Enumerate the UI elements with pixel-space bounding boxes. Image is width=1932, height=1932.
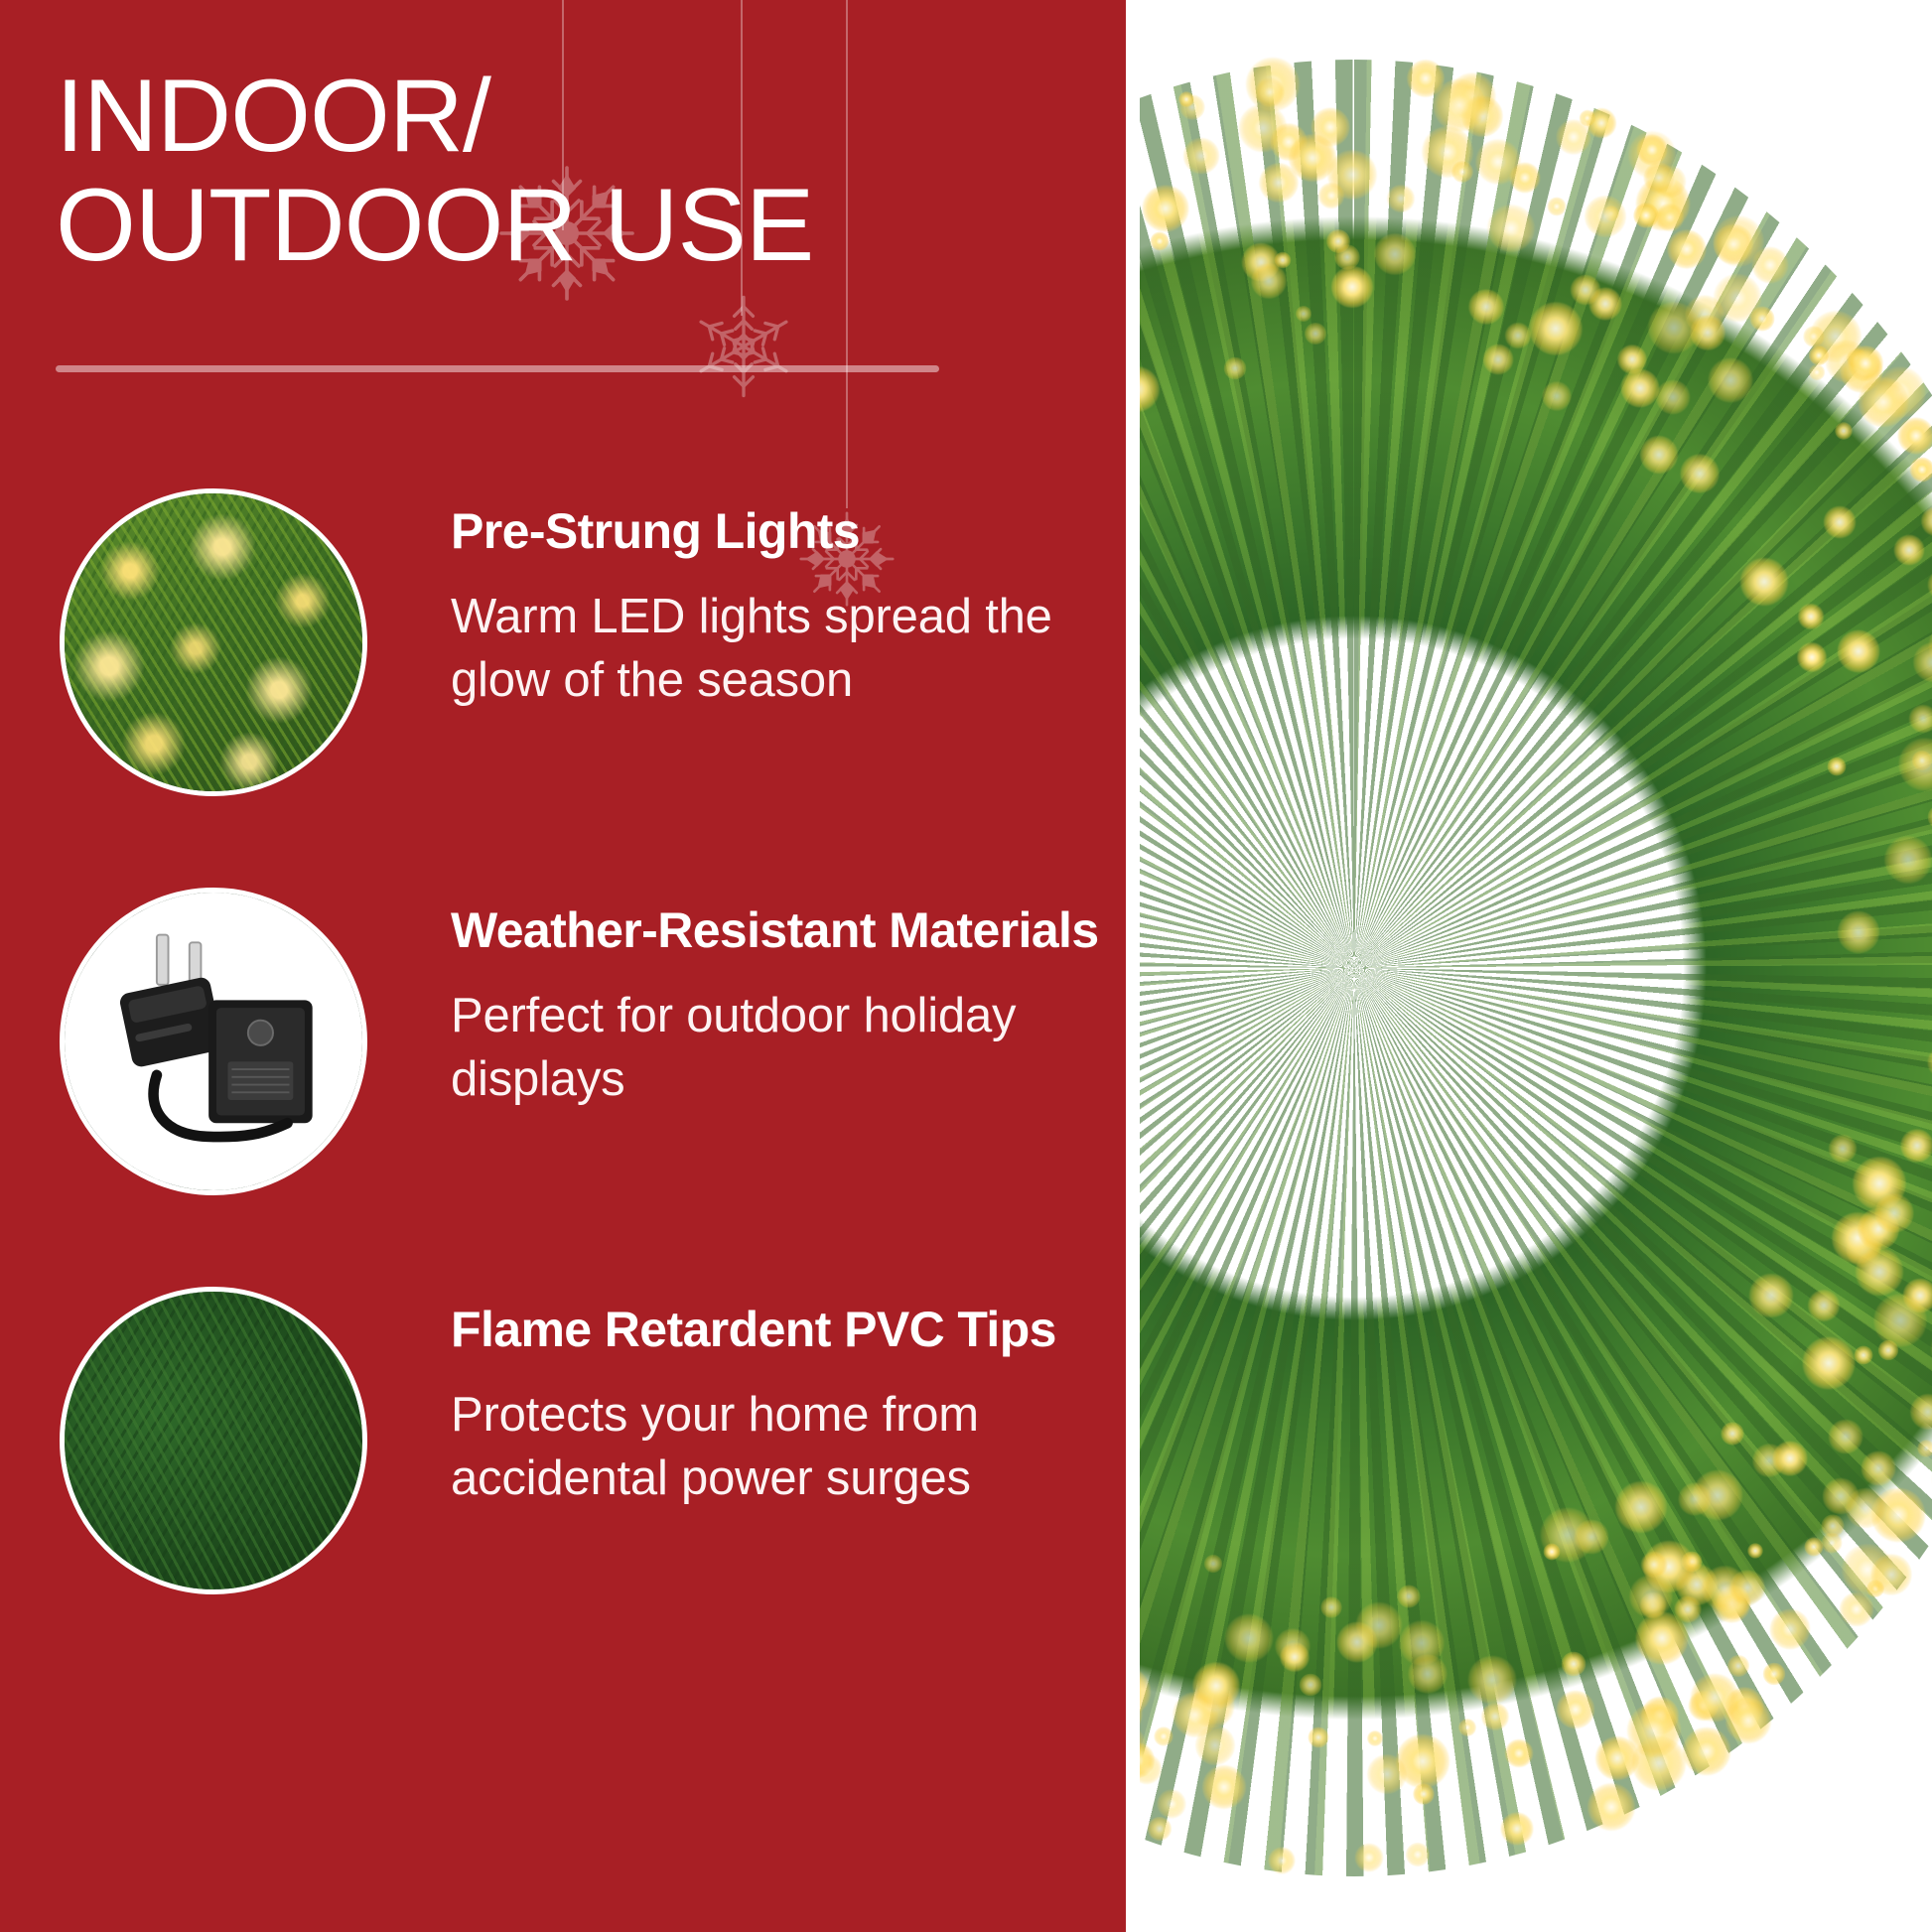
page-title-line-2: OUTDOOR USE [56, 171, 1058, 280]
feature-text-block: Weather-Resistant Materials Perfect for … [367, 888, 1126, 1111]
product-feature-infographic: INDOOR/ OUTDOOR USE Pre-Strung Lights Wa… [0, 0, 1932, 1932]
feature-text-block: Flame Retardent PVC Tips Protects your h… [367, 1287, 1126, 1510]
snowflake-icon [685, 288, 802, 405]
pre-lit-christmas-wreath-photo [1126, 60, 1932, 1876]
feature-list: Pre-Strung Lights Warm LED lights spread… [0, 488, 1126, 1686]
feature-item-flame-retardent-pvc-tips: Flame Retardent PVC Tips Protects your h… [0, 1287, 1126, 1594]
feature-item-weather-resistant-materials: Weather-Resistant Materials Perfect for … [0, 888, 1126, 1195]
power-adapter-plug-photo [65, 893, 362, 1190]
feature-item-pre-strung-lights: Pre-Strung Lights Warm LED lights spread… [0, 488, 1126, 796]
wreath-led-lights [1126, 60, 1932, 1876]
feature-description: Warm LED lights spread the glow of the s… [451, 586, 1126, 712]
pre-strung-lights-thumbnail [60, 488, 367, 796]
feature-panel: INDOOR/ OUTDOOR USE Pre-Strung Lights Wa… [0, 0, 1126, 1932]
weather-resistant-materials-thumbnail [60, 888, 367, 1195]
photo-left-edge [1126, 0, 1140, 1932]
feature-description: Protects your home from accidental power… [451, 1384, 1126, 1510]
page-title: INDOOR/ OUTDOOR USE [56, 62, 1058, 280]
green-pvc-pine-tips-photo [65, 1292, 362, 1589]
feature-title: Weather-Resistant Materials [451, 901, 1126, 959]
feature-title: Pre-Strung Lights [451, 502, 1126, 560]
page-title-line-1: INDOOR/ [56, 62, 1058, 171]
lit-pine-branches-photo [65, 493, 362, 791]
feature-text-block: Pre-Strung Lights Warm LED lights spread… [367, 488, 1126, 712]
feature-title: Flame Retardent PVC Tips [451, 1301, 1126, 1358]
product-photo-panel [1126, 0, 1932, 1932]
headline-divider [56, 365, 939, 372]
feature-description: Perfect for outdoor holiday displays [451, 985, 1126, 1111]
flame-retardent-pvc-tips-thumbnail [60, 1287, 367, 1594]
